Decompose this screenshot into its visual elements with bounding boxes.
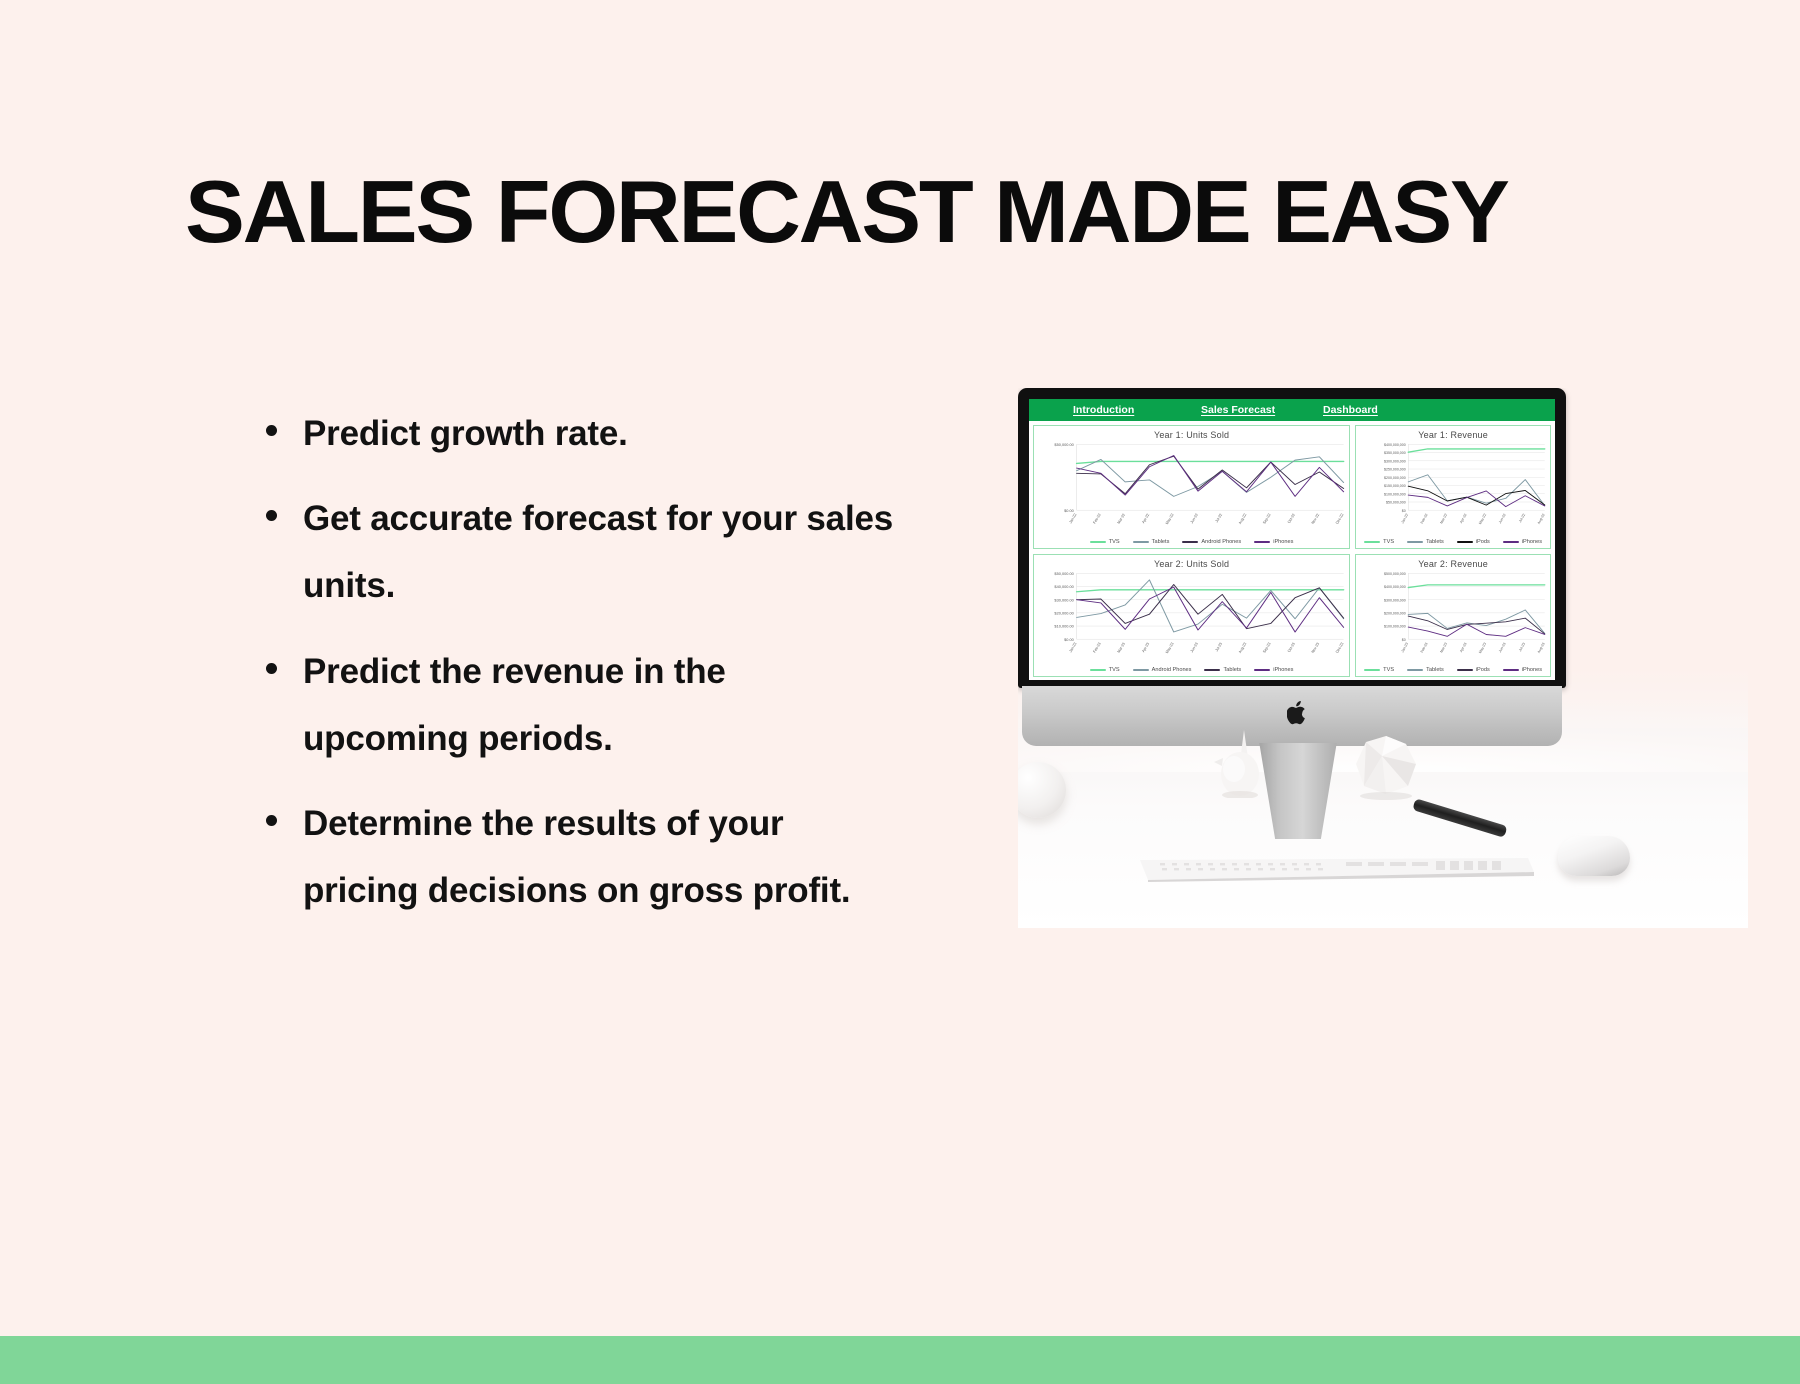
- legend-swatch: [1133, 669, 1149, 671]
- svg-text:Sep-23: Sep-23: [1262, 642, 1272, 654]
- chart-plot-area: $0$50,000,000$100,000,000$150,000,000$20…: [1356, 441, 1550, 547]
- list-item-label: Get accurate forecast for your sales uni…: [303, 499, 893, 605]
- svg-text:Mar-23: Mar-23: [1117, 642, 1127, 653]
- legend-item: iPods: [1457, 539, 1490, 545]
- legend-swatch: [1407, 541, 1423, 543]
- svg-text:Sep-22: Sep-22: [1262, 513, 1272, 525]
- svg-text:Apr-22: Apr-22: [1459, 513, 1468, 524]
- svg-text:$300,000,000: $300,000,000: [1384, 598, 1406, 602]
- mouse: [1558, 836, 1630, 876]
- legend-item: Android Phones: [1182, 539, 1241, 545]
- svg-text:Aug-22: Aug-22: [1537, 513, 1546, 525]
- svg-text:Nov-22: Nov-22: [1311, 513, 1321, 525]
- legend-swatch: [1457, 669, 1473, 671]
- svg-text:Nov-23: Nov-23: [1311, 642, 1321, 654]
- svg-text:Jul-23: Jul-23: [1215, 642, 1224, 652]
- legend-item: iPhones: [1503, 539, 1542, 545]
- list-item-label: Determine the results of your pricing de…: [303, 804, 850, 910]
- list-item: Determine the results of your pricing de…: [258, 790, 898, 924]
- svg-text:$50,000.00: $50,000.00: [1054, 443, 1073, 447]
- svg-text:Aug-22: Aug-22: [1238, 513, 1248, 525]
- svg-text:Oct-22: Oct-22: [1287, 513, 1296, 524]
- svg-text:$300,000,000: $300,000,000: [1384, 459, 1406, 463]
- chart-title: Year 1: Units Sold: [1034, 430, 1349, 440]
- svg-text:$0: $0: [1402, 509, 1406, 513]
- chart-plot-area: $0$100,000,000$200,000,000$300,000,000$4…: [1356, 570, 1550, 676]
- svg-text:Apr-23: Apr-23: [1141, 642, 1150, 653]
- svg-text:Mar-23: Mar-23: [1439, 641, 1448, 653]
- slide-root: SALES FORECAST MADE EASY Predict growth …: [0, 0, 1800, 1384]
- bottom-accent-band: [0, 1336, 1800, 1384]
- svg-text:$40,000.00: $40,000.00: [1054, 585, 1073, 589]
- line-chart-svg: $0.00$10,000.00$20,000.00$30,000.00$40,0…: [1034, 570, 1349, 676]
- bullet-dot-icon: [266, 815, 277, 826]
- svg-text:$10,000.00: $10,000.00: [1054, 624, 1073, 628]
- feature-bullet-list: Predict growth rate. Get accurate foreca…: [258, 400, 898, 942]
- chart-legend: TVSAndroid PhonesTabletsiPhones: [1034, 667, 1349, 673]
- bullet-dot-icon: [266, 425, 277, 436]
- chart-plot-area: $0.00$50,000.00Jan-22Feb-22Mar-22Apr-22M…: [1034, 441, 1349, 547]
- line-chart-svg: $0$50,000,000$100,000,000$150,000,000$20…: [1356, 441, 1550, 547]
- product-photo: Introduction Sales Forecast Dashboard Ye…: [1018, 388, 1748, 928]
- svg-text:Mar-22: Mar-22: [1117, 513, 1127, 524]
- legend-item: Tablets: [1407, 539, 1444, 545]
- legend-label: Android Phones: [1201, 539, 1241, 545]
- legend-label: iPhones: [1273, 539, 1293, 545]
- apple-logo-icon: [1287, 700, 1309, 726]
- svg-text:$350,000,000: $350,000,000: [1384, 451, 1406, 455]
- legend-swatch: [1457, 541, 1473, 543]
- chart-plot-area: $0.00$10,000.00$20,000.00$30,000.00$40,0…: [1034, 570, 1349, 676]
- legend-label: TVS: [1383, 539, 1394, 545]
- svg-text:Dec-23: Dec-23: [1335, 642, 1345, 654]
- legend-label: Tablets: [1426, 667, 1444, 673]
- chart-card-year1-revenue[interactable]: Year 1: Revenue $0$50,000,000$100,000,00…: [1355, 425, 1551, 549]
- chart-card-year1-units[interactable]: Year 1: Units Sold $0.00$50,000.00Jan-22…: [1033, 425, 1350, 549]
- legend-swatch: [1407, 669, 1423, 671]
- svg-text:Aug-23: Aug-23: [1537, 641, 1546, 653]
- legend-item: Tablets: [1133, 539, 1170, 545]
- legend-label: TVS: [1109, 539, 1120, 545]
- chart-card-year2-revenue[interactable]: Year 2: Revenue $0$100,000,000$200,000,0…: [1355, 554, 1551, 678]
- legend-item: iPhones: [1254, 667, 1293, 673]
- list-item-label: Predict the revenue in the upcoming peri…: [303, 652, 726, 758]
- bullet-dot-icon: [266, 663, 277, 674]
- bullet-dot-icon: [266, 510, 277, 521]
- legend-swatch: [1364, 541, 1380, 543]
- svg-text:Apr-23: Apr-23: [1459, 641, 1468, 652]
- page-title: SALES FORECAST MADE EASY: [185, 168, 1644, 256]
- legend-swatch: [1254, 669, 1270, 671]
- svg-text:$0.00: $0.00: [1064, 509, 1074, 513]
- legend-label: Tablets: [1223, 667, 1241, 673]
- tab-dashboard[interactable]: Dashboard: [1323, 404, 1378, 416]
- legend-item: TVS: [1364, 667, 1394, 673]
- chart-legend: TVSTabletsiPodsiPhones: [1356, 667, 1550, 673]
- svg-text:$400,000,000: $400,000,000: [1384, 585, 1406, 589]
- svg-text:$200,000,000: $200,000,000: [1384, 611, 1406, 615]
- legend-label: Tablets: [1426, 539, 1444, 545]
- svg-text:Jun-23: Jun-23: [1190, 642, 1199, 653]
- legend-label: iPhones: [1273, 667, 1293, 673]
- monitor-bezel: Introduction Sales Forecast Dashboard Ye…: [1018, 388, 1566, 688]
- chart-legend: TVSTabletsAndroid PhonesiPhones: [1034, 539, 1349, 545]
- legend-swatch: [1503, 541, 1519, 543]
- svg-text:$50,000.00: $50,000.00: [1054, 572, 1073, 576]
- chart-card-year2-units[interactable]: Year 2: Units Sold $0.00$10,000.00$20,00…: [1033, 554, 1350, 678]
- dashboard-chart-grid: Year 1: Units Sold $0.00$50,000.00Jan-22…: [1033, 425, 1551, 677]
- legend-label: Android Phones: [1152, 667, 1192, 673]
- chart-legend: TVSTabletsiPodsiPhones: [1356, 539, 1550, 545]
- bird-figurine: [1214, 722, 1270, 798]
- svg-text:$0.00: $0.00: [1064, 638, 1074, 642]
- keyboard: [1136, 856, 1536, 882]
- svg-text:$150,000,000: $150,000,000: [1384, 484, 1406, 488]
- legend-swatch: [1182, 541, 1198, 543]
- legend-label: iPods: [1476, 539, 1490, 545]
- legend-item: iPods: [1457, 667, 1490, 673]
- chart-title: Year 2: Revenue: [1356, 559, 1550, 569]
- legend-item: Android Phones: [1133, 667, 1192, 673]
- svg-text:$100,000,000: $100,000,000: [1384, 492, 1406, 496]
- svg-text:May-23: May-23: [1478, 641, 1487, 653]
- legend-item: Tablets: [1407, 667, 1444, 673]
- legend-item: TVS: [1090, 667, 1120, 673]
- legend-swatch: [1133, 541, 1149, 543]
- svg-text:Jun-22: Jun-22: [1498, 513, 1507, 524]
- svg-text:Aug-23: Aug-23: [1238, 642, 1248, 654]
- svg-text:Feb-22: Feb-22: [1092, 513, 1102, 524]
- svg-text:$500,000,000: $500,000,000: [1384, 571, 1406, 575]
- svg-text:Jun-23: Jun-23: [1498, 641, 1507, 652]
- legend-label: TVS: [1109, 667, 1120, 673]
- legend-item: iPhones: [1254, 539, 1293, 545]
- legend-swatch: [1503, 669, 1519, 671]
- svg-text:$30,000.00: $30,000.00: [1054, 598, 1073, 602]
- svg-text:Jun-22: Jun-22: [1190, 513, 1199, 524]
- imac-computer: Introduction Sales Forecast Dashboard Ye…: [1018, 388, 1578, 788]
- svg-text:May-23: May-23: [1165, 642, 1175, 654]
- legend-item: Tablets: [1204, 667, 1241, 673]
- legend-label: Tablets: [1152, 539, 1170, 545]
- crumpled-paper-ball: [1348, 730, 1422, 800]
- svg-text:Jul-22: Jul-22: [1518, 513, 1526, 523]
- legend-label: iPhones: [1522, 667, 1542, 673]
- svg-text:Feb-22: Feb-22: [1420, 513, 1429, 525]
- legend-swatch: [1090, 541, 1106, 543]
- chart-title: Year 1: Revenue: [1356, 430, 1550, 440]
- line-chart-svg: $0$100,000,000$200,000,000$300,000,000$4…: [1356, 570, 1550, 676]
- spreadsheet-tab-bar: Introduction Sales Forecast Dashboard: [1029, 399, 1555, 421]
- svg-text:Jan-23: Jan-23: [1068, 642, 1077, 653]
- legend-swatch: [1204, 669, 1220, 671]
- list-item: Predict growth rate.: [258, 400, 898, 467]
- svg-text:Jul-23: Jul-23: [1518, 641, 1526, 651]
- legend-item: TVS: [1364, 539, 1394, 545]
- svg-text:Apr-22: Apr-22: [1141, 513, 1150, 524]
- svg-text:$200,000,000: $200,000,000: [1384, 476, 1406, 480]
- legend-label: iPhones: [1522, 539, 1542, 545]
- tab-sales-forecast[interactable]: Sales Forecast: [1201, 404, 1323, 416]
- svg-text:$250,000,000: $250,000,000: [1384, 468, 1406, 472]
- line-chart-svg: $0.00$50,000.00Jan-22Feb-22Mar-22Apr-22M…: [1034, 441, 1349, 547]
- svg-text:Oct-23: Oct-23: [1287, 642, 1296, 653]
- svg-text:May-22: May-22: [1478, 513, 1487, 525]
- svg-text:$50,000,000: $50,000,000: [1386, 501, 1406, 505]
- legend-label: TVS: [1383, 667, 1394, 673]
- legend-label: iPods: [1476, 667, 1490, 673]
- svg-text:Feb-23: Feb-23: [1420, 641, 1429, 653]
- svg-text:Jan-22: Jan-22: [1068, 513, 1077, 524]
- legend-item: iPhones: [1503, 667, 1542, 673]
- svg-text:Jul-22: Jul-22: [1215, 513, 1224, 523]
- svg-text:$400,000,000: $400,000,000: [1384, 443, 1406, 447]
- svg-text:Jan-23: Jan-23: [1401, 641, 1410, 652]
- svg-text:Jan-22: Jan-22: [1401, 513, 1410, 524]
- legend-swatch: [1254, 541, 1270, 543]
- legend-swatch: [1090, 669, 1106, 671]
- svg-text:$0: $0: [1402, 637, 1406, 641]
- svg-text:Mar-22: Mar-22: [1439, 513, 1448, 525]
- svg-text:$100,000,000: $100,000,000: [1384, 624, 1406, 628]
- spreadsheet-app: Introduction Sales Forecast Dashboard Ye…: [1029, 399, 1555, 680]
- list-item: Predict the revenue in the upcoming peri…: [258, 638, 898, 772]
- list-item-label: Predict growth rate.: [303, 414, 628, 453]
- legend-item: TVS: [1090, 539, 1120, 545]
- svg-text:Feb-23: Feb-23: [1092, 642, 1102, 653]
- svg-text:$20,000.00: $20,000.00: [1054, 611, 1073, 615]
- svg-text:May-22: May-22: [1165, 513, 1175, 525]
- svg-text:Dec-22: Dec-22: [1335, 513, 1345, 525]
- tab-introduction[interactable]: Introduction: [1073, 404, 1201, 416]
- list-item: Get accurate forecast for your sales uni…: [258, 485, 898, 619]
- chart-title: Year 2: Units Sold: [1034, 559, 1349, 569]
- monitor-screen: Introduction Sales Forecast Dashboard Ye…: [1029, 399, 1555, 680]
- legend-swatch: [1364, 669, 1380, 671]
